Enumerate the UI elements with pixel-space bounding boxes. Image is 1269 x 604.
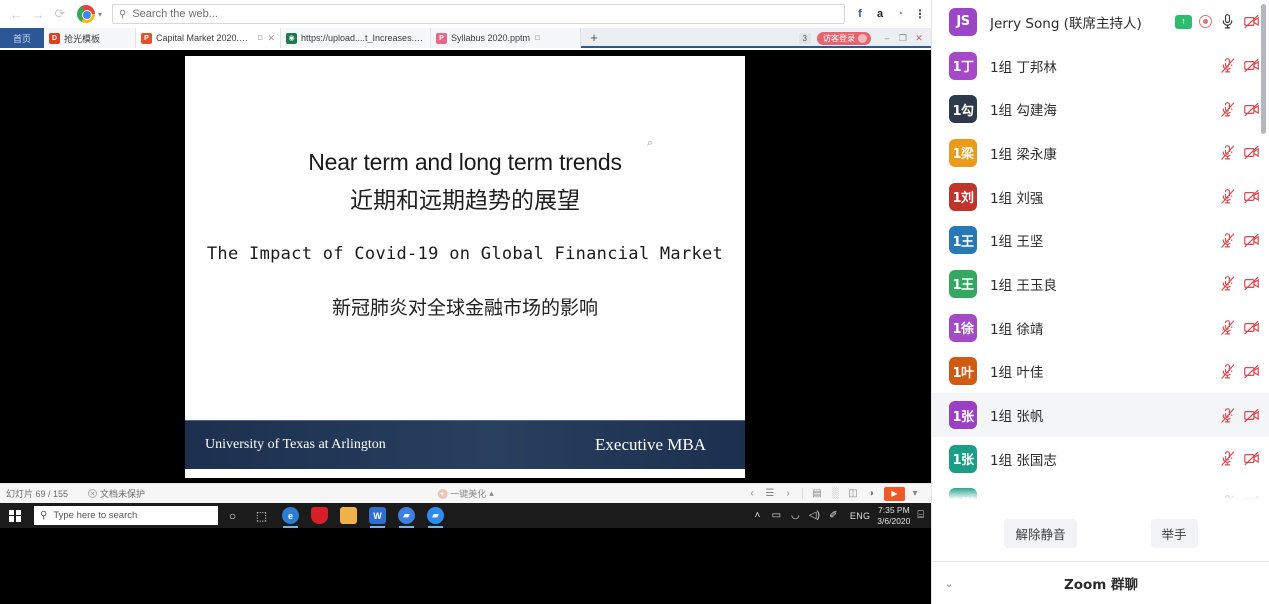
zoom-camera-glyph-2: ▰ [427,507,444,524]
desktop-region: ← → ⟳ ▾ ⚲ Search the web... f a ◔ ⋮ 首页 [0,0,931,604]
mic-muted-icon[interactable] [1219,232,1236,249]
chevron-down-icon[interactable]: ⌄ [932,577,966,590]
system-tray: ˄ ▭ ◡ ◁) ✐ ENG 7:35 PM 3/6/2020 ⌸ [748,503,931,528]
wifi-icon[interactable]: ◡ [786,503,805,528]
participant-name: 1组 刘强 [990,187,1043,207]
history-clock-icon[interactable]: ◔ [891,5,909,23]
slide-subtitle-zh: 新冠肺炎对全球金融市场的影响 [185,293,745,320]
participant-name: 1组 叶佳 [990,361,1043,381]
avatar: 1张 [949,445,977,473]
slide-sorter-button[interactable]: ░ [827,486,843,502]
sparkle-icon: ✦ [437,489,447,499]
search-input[interactable]: ⚲ Search the web... [112,4,845,24]
divider [802,488,803,499]
notifications-icon[interactable]: ⌸ [917,509,924,522]
zoom-camera-glyph: ▰ [398,507,415,524]
unmute-button[interactable]: 解除静音 [1004,519,1076,548]
edge-glyph: e [282,507,299,524]
powerpoint-status-bar: 幻灯片 69 / 155 ✕ 文档未保护 ✦ 一键美化 ▴ ‹ ☰ › ▤ ░ … [0,483,931,503]
participant-name: 1组 王玉良 [990,274,1057,294]
participant-name: 1组 张帆 [990,405,1043,425]
guest-login-badge[interactable]: 访客登录 [817,32,871,45]
slide-footer-right: Executive MBA [595,435,706,455]
wps-office-icon[interactable]: W [363,503,392,528]
status-bar-right-controls: ‹ ☰ › ▤ ░ ◫ ◑ ▶ ▾ [744,486,931,502]
participant-status-icons [1219,319,1260,336]
participant-status-icons [1219,188,1260,205]
facebook-icon[interactable]: f [851,5,869,23]
next-slide-button[interactable]: › [780,486,796,502]
participant-row[interactable]: 1张1组 张国志 [932,437,1269,481]
slide-footer-left: University of Texas at Arlington [205,437,386,453]
mic-muted-icon[interactable] [1219,363,1236,380]
clock-time: 7:35 PM [877,505,910,516]
slide-footer-banner: University of Texas at Arlington Executi… [185,420,745,469]
slide-counter: 幻灯片 69 / 155 [6,487,68,500]
windows-taskbar: ⚲ Type here to search ○ ⬚ e W ▰ ▰ [0,503,931,528]
avatar: 1王 [949,226,977,254]
task-view-icon[interactable]: ⬚ [247,503,276,528]
raise-hand-button[interactable]: 举手 [1151,519,1198,548]
guest-login-label: 访客登录 [823,33,855,44]
clock-date: 3/6/2020 [877,516,910,527]
slide-title-zh: 近期和远期趋势的展望 [185,181,745,215]
tab-0-icon: D [49,33,60,44]
tab-3-label: Syllabus 2020.pptm [451,33,530,43]
search-icon: ⚲ [40,510,47,521]
windows-logo-icon [9,510,21,522]
desktop-background [0,528,931,604]
participant-status-icons [1219,450,1260,467]
video-muted-icon[interactable] [1243,144,1260,161]
shield-off-icon: ✕ [88,489,97,498]
tab-1-pin-icon[interactable]: ⌑ [258,33,263,44]
participant-status-icons: ↑ [1175,13,1260,30]
chat-panel-title: Zoom 群聊 [966,573,1236,593]
participant-row[interactable]: 1丁1组 丁邦林 [932,44,1269,88]
tab-strip: 首页 D 抢光模板 P Capital Market 2020.pptx ⌑ ✕… [0,28,931,48]
taskbar-search-placeholder: Type here to search [53,510,137,521]
slide-canvas[interactable]: Near term and long term trends 近期和远期趋势的展… [185,56,745,478]
presenter-view-button[interactable]: ◑ [863,486,879,502]
wps-glyph: W [369,507,386,524]
amazon-icon[interactable]: a [871,5,889,23]
participant-row[interactable]: 1叶1组 叶佳 [932,350,1269,394]
tab-2-label: https://upload....t_Increases.png [301,33,425,43]
tab-3[interactable]: P Syllabus 2020.pptm ⌑ [431,28,581,48]
clock[interactable]: 7:35 PM 3/6/2020 [877,505,910,527]
mic-muted-icon[interactable] [1219,57,1236,74]
participant-row[interactable]: 1勾1组 勾建海 [932,87,1269,131]
avatar: 1张 [949,401,977,429]
participant-status-icons [1219,363,1260,380]
participant-status-icons [1219,57,1260,74]
shield-glyph [311,507,328,524]
participants-list[interactable]: JSJerry Song (联席主持人)↑ 1丁1组 丁邦林 1勾1组 勾建海 … [932,0,1269,505]
search-input-placeholder: Search the web... [132,8,218,20]
forward-button[interactable]: → [27,3,49,25]
participant-row[interactable]: 1张1组 张帆 [932,393,1269,437]
slide-stage: Near term and long term trends 近期和远期趋势的展… [0,50,931,483]
participant-status-icons [1219,232,1260,249]
share-count-badge[interactable]: 3 [799,33,811,44]
video-muted-icon[interactable] [1243,188,1260,205]
tab-1-close-icon[interactable]: ✕ [267,33,275,44]
participant-row[interactable]: 1王1组 王坚 [932,218,1269,262]
screen-share-badge: ↑ [1175,15,1192,29]
maximize-button[interactable]: ❐ [895,33,911,44]
edge-icon[interactable]: e [276,503,305,528]
zoom-participants-panel: JSJerry Song (联席主持人)↑ 1丁1组 丁邦林 1勾1组 勾建海 … [931,0,1269,604]
recording-badge [1199,15,1212,28]
avatar: 1勾 [949,95,977,123]
antivirus-shield-icon[interactable] [305,503,334,528]
video-muted-icon[interactable] [1243,101,1260,118]
beautify-button[interactable]: ✦ 一键美化 ▴ [437,487,494,500]
browser-window: ← → ⟳ ▾ ⚲ Search the web... f a ◔ ⋮ 首页 [0,0,931,50]
start-button[interactable] [0,503,30,528]
participant-row[interactable]: 1徐1组 徐靖 [932,306,1269,350]
pen-icon[interactable]: ✐ [824,503,843,528]
tab-3-icon: P [436,33,447,44]
avatar: 1张 [949,488,977,505]
participants-scrollbar[interactable] [1261,4,1266,134]
participant-name: 1组 王坚 [990,230,1043,250]
tab-home[interactable]: 首页 [0,28,44,48]
zoom-chat-header[interactable]: ⌄ Zoom 群聊 [932,562,1269,604]
file-explorer-icon[interactable] [334,503,363,528]
start-slideshow-button[interactable]: ▶ [884,487,905,501]
tab-0-label: 抢光模板 [64,32,100,45]
participant-status-icons [1219,144,1260,161]
tab-3-pin-icon[interactable]: ⌑ [535,33,540,44]
video-muted-icon[interactable] [1243,319,1260,336]
new-tab-button[interactable]: + [581,28,607,46]
avatar: JS [949,8,977,36]
browser-address-bar: ← → ⟳ ▾ ⚲ Search the web... f a ◔ ⋮ [0,0,931,28]
tab-1-icon: P [141,33,152,44]
avatar: 1叶 [949,357,977,385]
minimize-button[interactable]: – [879,33,895,43]
language-indicator[interactable]: ENG [850,511,870,521]
participant-status-icons [1219,407,1260,424]
mic-muted-icon[interactable] [1219,144,1236,161]
tab-home-label: 首页 [13,32,31,45]
participant-row[interactable]: 1梁1组 梁永康 [932,131,1269,175]
cortana-icon[interactable]: ○ [218,503,247,528]
participant-name: 1组 梁永康 [990,143,1057,163]
battery-icon[interactable]: ▭ [767,503,786,528]
reading-view-button[interactable]: ◫ [845,486,861,502]
tabstrip-right-controls: 3 访客登录 – ❐ ✕ [799,28,931,48]
chevron-up-icon: ▴ [489,488,494,499]
search-icon: ⚲ [119,9,126,20]
mic-muted-icon[interactable] [1219,275,1236,292]
mic-muted-icon[interactable] [1219,319,1236,336]
video-muted-icon[interactable] [1243,275,1260,292]
participant-name: 1组 张国志 [990,449,1057,469]
mic-muted-icon[interactable] [1219,101,1236,118]
participant-status-icons [1219,494,1260,505]
avatar: 1刘 [949,183,977,211]
beautify-label: 一键美化 [450,487,486,500]
slide-text-region: Near term and long term trends 近期和远期趋势的展… [185,56,745,438]
mic-icon[interactable] [1219,13,1236,30]
folder-glyph [340,507,357,524]
participant-name: 1组 丁邦林 [990,56,1057,76]
taskbar-search-input[interactable]: ⚲ Type here to search [34,506,218,525]
participant-row[interactable]: 1王1组 王玉良 [932,262,1269,306]
chevron-down-icon[interactable]: ▾ [98,10,102,19]
prev-slide-button[interactable]: ‹ [744,486,760,502]
close-button[interactable]: ✕ [911,33,927,44]
participant-name: 1组 勾建海 [990,99,1057,119]
avatar: 1丁 [949,52,977,80]
back-button[interactable]: ← [5,3,27,25]
avatar [858,34,867,43]
mouse-cursor: ⌕ [647,138,655,149]
avatar: 1徐 [949,314,977,342]
participant-row[interactable]: 1刘1组 刘强 [932,175,1269,219]
tab-2[interactable]: ◉ https://upload....t_Increases.png [281,28,431,48]
video-muted-icon[interactable] [1243,232,1260,249]
video-muted-icon[interactable] [1243,363,1260,380]
participant-name: 1组 徐靖 [990,318,1043,338]
participant-status-icons [1219,275,1260,292]
avatar: 1梁 [949,139,977,167]
video-muted-icon[interactable] [1243,57,1260,74]
participant-row[interactable]: JSJerry Song (联席主持人)↑ [932,0,1269,44]
mic-muted-icon[interactable] [1219,494,1236,505]
chrome-logo-icon[interactable] [77,5,95,23]
zoom-meeting-icon[interactable]: ▰ [392,503,421,528]
mic-muted-icon[interactable] [1219,407,1236,424]
participant-row[interactable]: 1张 [932,481,1269,505]
tab-1[interactable]: P Capital Market 2020.pptx ⌑ ✕ [136,28,281,48]
mic-muted-icon[interactable] [1219,188,1236,205]
normal-view-button[interactable]: ▤ [809,486,825,502]
show-hidden-icons-chevron[interactable]: ˄ [748,503,767,528]
zoom-app-icon[interactable]: ▰ [421,503,450,528]
video-muted-icon[interactable] [1243,13,1260,30]
slide-list-button[interactable]: ☰ [762,486,778,502]
video-muted-icon[interactable] [1243,450,1260,467]
chevron-down-icon[interactable]: ▾ [907,486,923,502]
document-protection-status[interactable]: ✕ 文档未保护 [88,487,145,500]
video-muted-icon[interactable] [1243,494,1260,505]
tab-0[interactable]: D 抢光模板 [44,28,136,48]
participant-name: Jerry Song (联席主持人) [990,12,1142,32]
avatar: 1王 [949,270,977,298]
participant-action-bar: 解除静音 举手 [932,505,1269,562]
slide-subtitle-en: The Impact of Covid-19 on Global Financi… [185,242,745,267]
mic-muted-icon[interactable] [1219,450,1236,467]
reload-button[interactable]: ⟳ [49,3,71,25]
tab-2-icon: ◉ [286,33,297,44]
volume-icon[interactable]: ◁) [805,503,824,528]
tab-1-label: Capital Market 2020.pptx [156,33,253,43]
more-menu-icon[interactable]: ⋮ [911,5,929,23]
document-protection-label: 文档未保护 [100,487,145,500]
slide-title-en: Near term and long term trends [185,149,745,176]
participant-status-icons [1219,101,1260,118]
screen: ← → ⟳ ▾ ⚲ Search the web... f a ◔ ⋮ 首页 [0,0,1269,604]
video-muted-icon[interactable] [1243,407,1260,424]
